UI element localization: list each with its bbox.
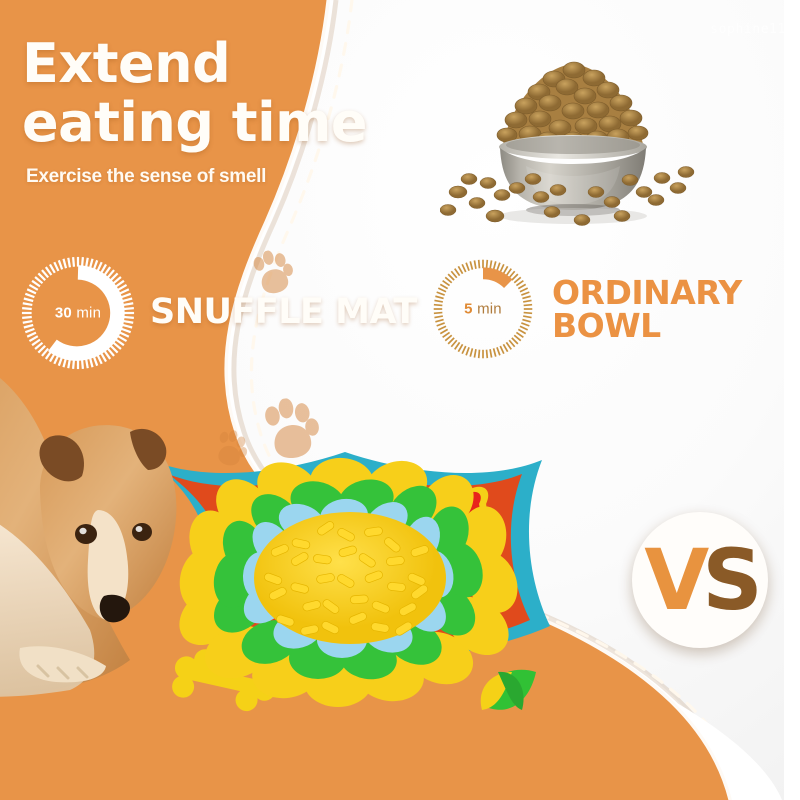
timer-dial-label: 5 min [432, 301, 534, 318]
timer-dial-icon: 5 min [432, 258, 534, 360]
versus-badge: VS [632, 512, 768, 648]
timer-unit: min [477, 301, 502, 318]
headline-block: Extend eating time Exercise the sense of… [22, 38, 382, 188]
ordinary-bowl-title-line-2: BOWL [552, 310, 742, 341]
headline-line-2: eating time [22, 97, 382, 150]
watermark-text: sophine11 [710, 22, 786, 37]
timer-value: 30 [55, 305, 72, 322]
timer-value: 5 [464, 301, 473, 318]
snuffle-mat-title: SNUFFLE MAT [150, 296, 417, 329]
product-poster: sophine11 Extend eating ti [0, 0, 800, 800]
ordinary-bowl-comparison-badge: 5 min ORDINARY BOWL [432, 258, 742, 360]
snuffle-mat-comparison-badge: 30 min SNUFFLE MAT [20, 255, 417, 371]
headline-line-1: Extend [22, 38, 382, 91]
dog-photo [0, 360, 230, 730]
timer-dial-icon: 30 min [20, 255, 136, 371]
ordinary-bowl-title-line-1: ORDINARY [552, 277, 742, 308]
timer-dial-label: 30 min [20, 305, 136, 322]
timer-unit: min [76, 305, 101, 322]
headline-subtitle: Exercise the sense of smell [26, 166, 382, 188]
leaf-applique [481, 670, 536, 710]
versus-letter-s: S [702, 531, 756, 629]
versus-letter-v: V [644, 531, 702, 629]
ordinary-bowl-photo [440, 40, 705, 235]
